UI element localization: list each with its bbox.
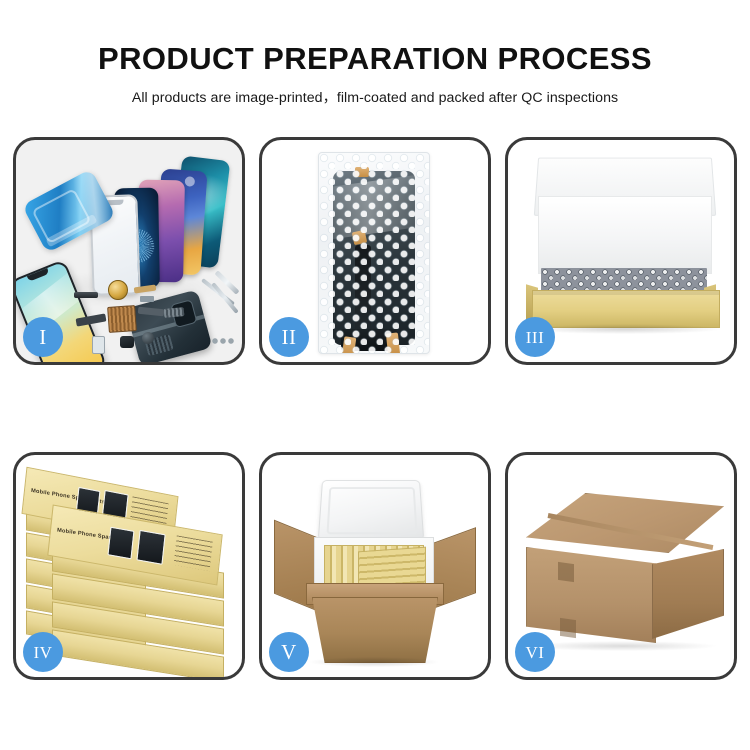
sim-tray-part-icon <box>92 336 105 354</box>
floor-shadow <box>530 324 720 334</box>
page-header: PRODUCT PREPARATION PROCESS All products… <box>0 0 750 107</box>
panel-product-components: I <box>13 137 245 365</box>
poly-bag-icon <box>318 152 430 354</box>
step-badge-4: IV <box>23 632 63 672</box>
step-badge-2: II <box>269 317 309 357</box>
page-title: PRODUCT PREPARATION PROCESS <box>0 0 750 76</box>
chip-grid-part-icon <box>107 305 137 333</box>
panel-carton-packing: V <box>259 452 491 680</box>
step-badge-5: V <box>269 632 309 672</box>
carton-side-face <box>652 549 724 639</box>
step-badge-3: III <box>515 317 555 357</box>
box-spec-lines-front <box>174 535 213 571</box>
gold-disc-part-icon <box>108 280 128 300</box>
camera-part-icon <box>120 336 134 348</box>
carton-tab-lower <box>560 618 576 638</box>
step-badge-1: I <box>23 317 63 357</box>
page-subtitle: All products are image-printed，film-coat… <box>0 76 750 107</box>
connector-part-icon <box>140 296 154 302</box>
vibration-motor-part-icon <box>142 332 154 344</box>
carton-body <box>312 597 438 663</box>
floor-shadow <box>310 657 438 667</box>
panel-foam-lined-box: III <box>505 137 737 365</box>
panel-bubble-wrapped-screen: II <box>259 137 491 365</box>
step-badge-6: VI <box>515 632 555 672</box>
box-window-3 <box>107 527 134 560</box>
foam-sheet-icon <box>538 196 712 274</box>
foam-cooler-lid-icon <box>318 480 424 540</box>
panel-sealed-carton: VI <box>505 452 737 680</box>
process-panel-grid: I II <box>13 137 737 680</box>
floor-shadow <box>530 641 716 651</box>
speaker-part-icon <box>164 307 185 318</box>
film-strip <box>45 214 97 248</box>
box-window-4 <box>136 530 165 565</box>
screws-part-icon <box>212 336 234 346</box>
hero-notch <box>27 268 50 282</box>
yellow-box-front-icon <box>532 290 720 328</box>
bubble-wrap-texture <box>319 153 429 353</box>
dark-bar-part-icon <box>74 292 98 298</box>
carton-tab-upper <box>558 562 574 582</box>
carton-front-face <box>526 547 656 643</box>
panel-boxed-stack: Mobile Phone Spare Parts Mobile Phone Sp… <box>13 452 245 680</box>
